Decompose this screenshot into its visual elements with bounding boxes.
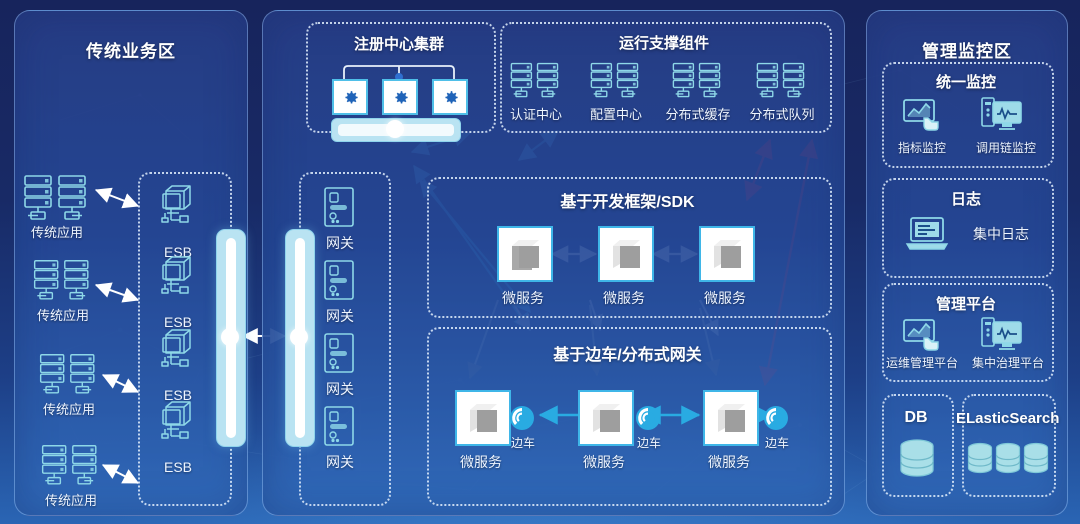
- ops-platform-label: 运维管理平台: [876, 354, 968, 371]
- cube-icon: [508, 238, 542, 270]
- runtime-item-3-label: 分布式缓存: [651, 104, 745, 123]
- sdk-service-1[interactable]: [497, 226, 553, 282]
- gateway-icon: [322, 405, 356, 447]
- unified-monitoring-title: 统一监控: [882, 71, 1050, 92]
- ops-platform[interactable]: [902, 318, 940, 352]
- server-stack-icon: [588, 62, 644, 102]
- trace-monitor-icon: [980, 96, 1024, 132]
- cube-icon: [710, 238, 744, 270]
- gateway-1-label: 网关: [309, 233, 371, 253]
- esb-bus-knob[interactable]: [221, 328, 239, 346]
- sidecar-3[interactable]: [762, 404, 790, 432]
- gateway-4-label: 网关: [309, 452, 371, 472]
- gateway-icon: [322, 259, 356, 301]
- sidecar-2-label: 边车: [626, 434, 672, 451]
- sidecar-icon: [634, 404, 662, 432]
- sidecar-service-3[interactable]: [703, 390, 759, 446]
- elasticsearch-title: ELasticSearch: [956, 410, 1058, 427]
- sidecar-service-3-label: 微服务: [694, 452, 764, 472]
- gear-icon: [341, 88, 360, 107]
- server-stack-icon: [508, 62, 564, 102]
- sdk-service-1-label: 微服务: [488, 288, 558, 308]
- log-title: 日志: [882, 188, 1050, 209]
- gear-icon: [441, 88, 460, 107]
- gateway-4[interactable]: [322, 405, 356, 447]
- gateway-3-label: 网关: [309, 379, 371, 399]
- trace-monitor[interactable]: [980, 96, 1024, 132]
- cube-icon: [466, 402, 500, 434]
- panel-management-title: 管理监控区: [867, 37, 1067, 62]
- runtime-support-title: 运行支撑组件: [500, 32, 828, 53]
- cube-icon: [609, 238, 643, 270]
- gateway-icon: [322, 186, 356, 228]
- sdk-zone-title: 基于开发框架/SDK: [427, 188, 828, 212]
- governance-platform[interactable]: [980, 316, 1024, 352]
- trace-monitor-label: 调用链监控: [962, 139, 1050, 156]
- runtime-item-2-label: 配置中心: [576, 104, 656, 123]
- architecture-diagram: 传统业务区 传统应用: [0, 0, 1080, 524]
- sdk-service-2[interactable]: [598, 226, 654, 282]
- gateway-icon: [322, 332, 356, 374]
- registry-node-1[interactable]: [332, 79, 368, 115]
- cube-icon: [589, 402, 623, 434]
- sidecar-2[interactable]: [634, 404, 662, 432]
- runtime-item-1[interactable]: [508, 62, 564, 102]
- sdk-service-3-label: 微服务: [690, 288, 760, 308]
- centralized-log[interactable]: [906, 216, 950, 252]
- registry-cluster-title: 注册中心集群: [306, 33, 492, 54]
- sidecar-1[interactable]: [508, 404, 536, 432]
- ops-platform-icon: [902, 318, 940, 352]
- registry-node-2[interactable]: [382, 79, 418, 115]
- gear-icon: [391, 88, 410, 107]
- database-icon: [898, 438, 936, 480]
- runtime-item-4-label: 分布式队列: [735, 104, 829, 123]
- registry-bus-knob[interactable]: [386, 120, 404, 138]
- sidecar-icon: [762, 404, 790, 432]
- runtime-item-1-label: 认证中心: [496, 104, 576, 123]
- centralized-log-label: 集中日志: [960, 224, 1042, 244]
- gateway-2-label: 网关: [309, 306, 371, 326]
- database-icon: [967, 441, 1049, 481]
- gateway-3[interactable]: [322, 332, 356, 374]
- gateway-1[interactable]: [322, 186, 356, 228]
- metrics-monitor[interactable]: [902, 98, 940, 132]
- runtime-item-3[interactable]: [670, 62, 726, 102]
- runtime-item-2[interactable]: [588, 62, 644, 102]
- server-stack-icon: [670, 62, 726, 102]
- sidecar-1-label: 边车: [500, 434, 546, 451]
- registry-node-3[interactable]: [432, 79, 468, 115]
- server-stack-icon: [754, 62, 810, 102]
- cube-icon: [714, 402, 748, 434]
- db-title: DB: [882, 409, 950, 427]
- db-cylinder[interactable]: [898, 438, 936, 480]
- gateway-2[interactable]: [322, 259, 356, 301]
- sidecar-3-label: 边车: [754, 434, 800, 451]
- metrics-monitor-icon: [902, 98, 940, 132]
- management-platform-title: 管理平台: [882, 293, 1050, 314]
- sdk-service-3[interactable]: [699, 226, 755, 282]
- sidecar-service-2-label: 微服务: [569, 452, 639, 472]
- governance-platform-label: 集中治理平台: [962, 354, 1054, 371]
- gateway-bus-knob[interactable]: [290, 328, 308, 346]
- metrics-monitor-label: 指标监控: [884, 139, 960, 156]
- sidecar-service-1-label: 微服务: [446, 452, 516, 472]
- laptop-log-icon: [906, 216, 950, 252]
- sdk-service-2-label: 微服务: [589, 288, 659, 308]
- sidecar-icon: [508, 404, 536, 432]
- runtime-item-4[interactable]: [754, 62, 810, 102]
- governance-platform-icon: [980, 316, 1024, 352]
- elasticsearch-cylinders[interactable]: [967, 441, 1049, 481]
